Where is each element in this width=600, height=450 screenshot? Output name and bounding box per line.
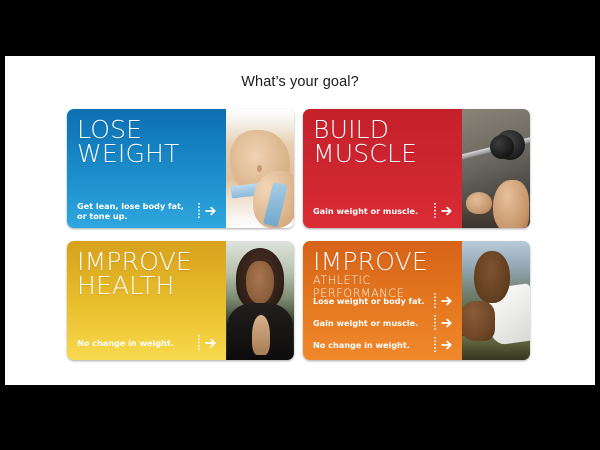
dotted-divider	[198, 203, 200, 218]
goal-option-row[interactable]: No change in weight.	[313, 336, 453, 353]
screen-letterbox: What’s your goal? LOSE WEIGHT Get lean, …	[0, 0, 600, 450]
card-headline: IMPROVE HEALTH	[77, 250, 226, 298]
arrow-right-icon[interactable]	[205, 337, 217, 349]
goal-option-row[interactable]: Gain weight or muscle.	[313, 202, 453, 219]
goal-card-improve-athletic-performance[interactable]: IMPROVE ATHLETIC PERFORMANCE Lose weight…	[303, 241, 530, 360]
dotted-divider	[434, 337, 436, 352]
goal-option-label: Gain weight or muscle.	[313, 206, 431, 216]
dotted-divider	[434, 293, 436, 308]
arrow-right-icon[interactable]	[441, 317, 453, 329]
content-stage: What’s your goal? LOSE WEIGHT Get lean, …	[5, 56, 595, 385]
goal-option-label: Get lean, lose body fat, or tone up.	[77, 201, 195, 221]
goal-option-label: Gain weight or muscle.	[313, 318, 431, 328]
goal-option-row[interactable]: No change in weight.	[77, 334, 217, 351]
card-actions: Get lean, lose body fat, or tone up.	[77, 202, 217, 219]
goal-option-row[interactable]: Gain weight or muscle.	[313, 314, 453, 331]
goal-option-row[interactable]: Lose weight or body fat.	[313, 292, 453, 309]
goal-option-label: No change in weight.	[77, 338, 195, 348]
goal-card-grid: LOSE WEIGHT Get lean, lose body fat, or …	[67, 109, 539, 369]
card-photo-woman-meditating	[226, 241, 294, 360]
goal-option-row[interactable]: Get lean, lose body fat, or tone up.	[77, 202, 217, 219]
arrow-right-icon[interactable]	[441, 205, 453, 217]
arrow-right-icon[interactable]	[205, 205, 217, 217]
arrow-right-icon[interactable]	[441, 339, 453, 351]
card-photo-waist-tape-measure	[226, 109, 294, 228]
card-headline: IMPROVE	[313, 250, 462, 273]
dotted-divider	[198, 335, 200, 350]
card-headline: BUILD MUSCLE	[313, 118, 462, 166]
card-photo-gym-bench-press	[462, 109, 530, 228]
page-title: What’s your goal?	[5, 74, 595, 90]
goal-option-label: Lose weight or body fat.	[313, 296, 431, 306]
card-photo-athlete-outdoors	[462, 241, 530, 360]
card-actions: Gain weight or muscle.	[313, 202, 453, 219]
goal-card-lose-weight[interactable]: LOSE WEIGHT Get lean, lose body fat, or …	[67, 109, 294, 228]
goal-option-label: No change in weight.	[313, 340, 431, 350]
card-headline: LOSE WEIGHT	[77, 118, 226, 166]
dotted-divider	[434, 203, 436, 218]
card-actions: Lose weight or body fat. Gain weight or …	[313, 292, 453, 353]
card-actions: No change in weight.	[77, 334, 217, 351]
arrow-right-icon[interactable]	[441, 295, 453, 307]
goal-card-build-muscle[interactable]: BUILD MUSCLE Gain weight or muscle.	[303, 109, 530, 228]
dotted-divider	[434, 315, 436, 330]
goal-card-improve-health[interactable]: IMPROVE HEALTH No change in weight.	[67, 241, 294, 360]
